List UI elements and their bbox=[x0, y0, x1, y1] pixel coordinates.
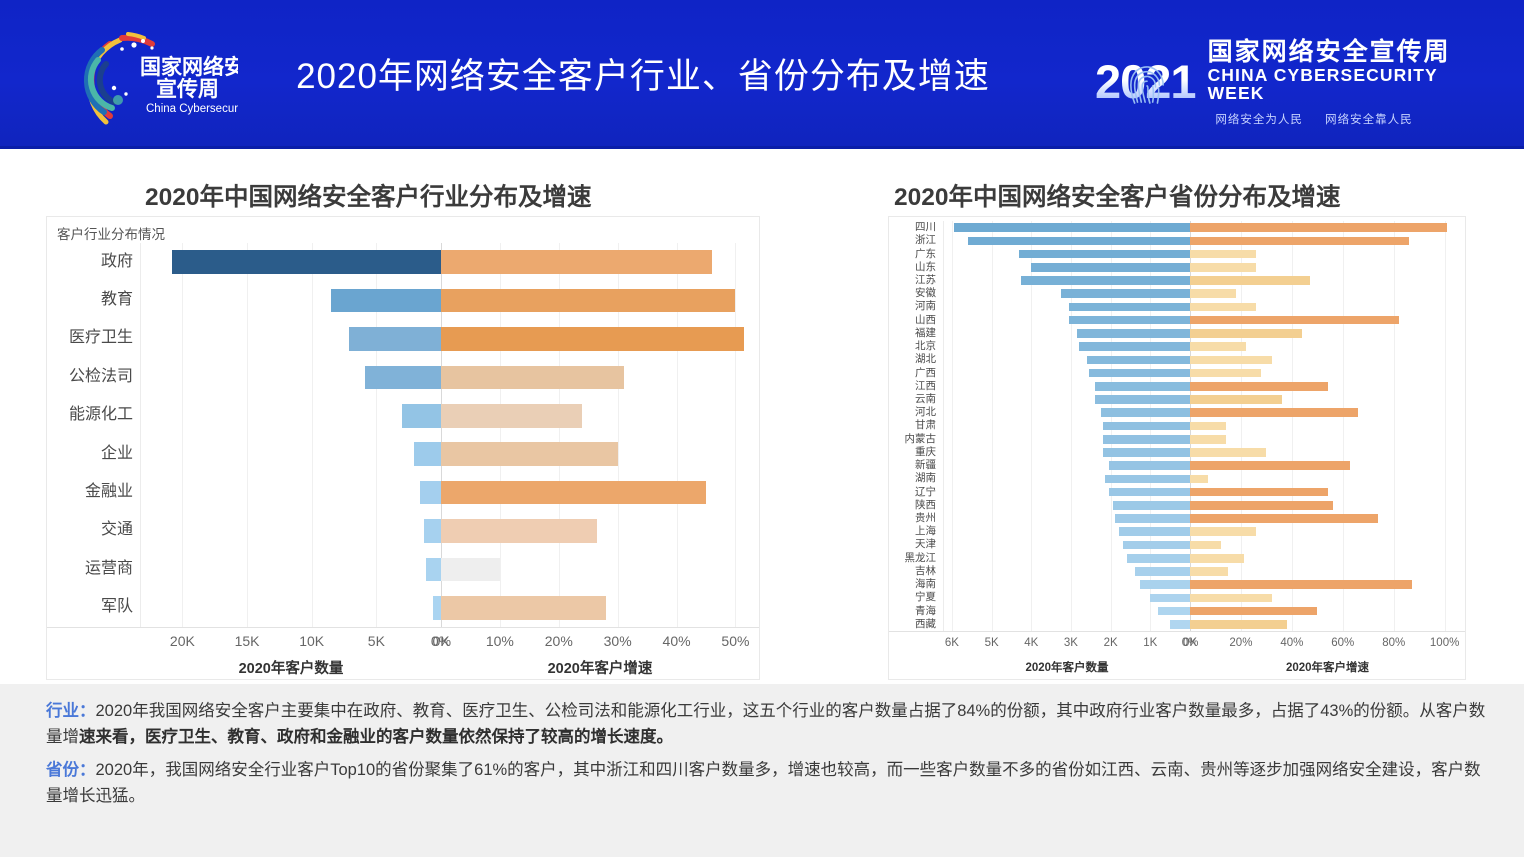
bar-count bbox=[1103, 422, 1190, 431]
category-label: 浙江 bbox=[915, 233, 936, 247]
bar-growth bbox=[441, 327, 744, 351]
province-chart-card: 四川浙江广东山东江苏安徽河南山西福建北京湖北广西江西云南河北甘肃内蒙古重庆新疆湖… bbox=[888, 216, 1466, 680]
footnote-industry: 行业：2020年我国网络安全客户主要集中在政府、教育、医疗卫生、公检司法和能源化… bbox=[46, 698, 1486, 750]
logo-cn-line1: 国家网络安全 bbox=[140, 55, 238, 79]
bar-growth bbox=[1190, 620, 1287, 629]
bar-count bbox=[1105, 475, 1190, 484]
category-label: 教育 bbox=[101, 289, 133, 311]
bar-count bbox=[1170, 620, 1190, 629]
bar-growth bbox=[1190, 461, 1350, 470]
category-label: 内蒙古 bbox=[905, 432, 937, 446]
bars-area bbox=[944, 221, 1465, 631]
category-label: 山西 bbox=[915, 313, 936, 327]
bar-count bbox=[1019, 250, 1190, 259]
bar-count bbox=[1109, 461, 1190, 470]
category-label: 江苏 bbox=[915, 273, 936, 287]
category-label: 政府 bbox=[101, 251, 133, 273]
bar-growth bbox=[1190, 514, 1378, 523]
category-label: 江西 bbox=[915, 379, 936, 393]
industry-plot: 政府教育医疗卫生公检法司能源化工企业金融业交通运营商军队20K15K10K5K0… bbox=[47, 243, 759, 679]
axis-line bbox=[47, 627, 759, 628]
bar-growth bbox=[1190, 263, 1256, 272]
gridline bbox=[1394, 221, 1395, 631]
bar-count bbox=[1095, 382, 1190, 391]
bar-count bbox=[365, 366, 441, 390]
axis-tick: 50% bbox=[709, 633, 761, 649]
axis-title-growth: 2020年客户增速 bbox=[441, 657, 759, 678]
category-label: 贵州 bbox=[915, 511, 936, 525]
left-chart-title: 2020年中国网络安全客户行业分布及增速 bbox=[145, 178, 592, 213]
bar-growth bbox=[441, 250, 712, 274]
bar-count bbox=[1089, 369, 1190, 378]
category-label: 西藏 bbox=[915, 617, 936, 631]
axis-tick: 5K bbox=[350, 633, 402, 649]
header-divider bbox=[0, 146, 1524, 149]
bar-count bbox=[1103, 435, 1190, 444]
logo-en-title: CHINA CYBERSECURITY WEEK bbox=[1208, 66, 1485, 102]
category-label: 四川 bbox=[915, 220, 936, 234]
footnote-industry-sep: ： bbox=[79, 702, 96, 720]
category-label: 安徽 bbox=[915, 286, 936, 300]
gridline bbox=[992, 221, 993, 631]
logo-slogans: 网络安全为人民 网络安全靠人民 bbox=[1095, 111, 1485, 127]
logo-en: China Cybersecurity Week bbox=[146, 103, 238, 115]
bar-growth bbox=[1190, 422, 1226, 431]
category-label-column: 四川浙江广东山东江苏安徽河南山西福建北京湖北广西江西云南河北甘肃内蒙古重庆新疆湖… bbox=[889, 221, 944, 631]
bar-growth bbox=[1190, 594, 1272, 603]
axis-tick: 60% bbox=[1317, 637, 1369, 649]
bar-growth bbox=[441, 519, 597, 543]
bars-area bbox=[141, 243, 759, 627]
bar-growth bbox=[1190, 541, 1221, 550]
bar-count bbox=[1119, 527, 1190, 536]
category-label: 河南 bbox=[915, 299, 936, 313]
bar-count bbox=[1115, 514, 1190, 523]
bar-growth bbox=[441, 442, 618, 466]
bar-count bbox=[1031, 263, 1190, 272]
axis-tick: 30% bbox=[592, 633, 644, 649]
logo-cn-title: 国家网络安全宣传周 bbox=[1208, 40, 1485, 66]
bar-count bbox=[1140, 580, 1190, 589]
bar-growth bbox=[1190, 356, 1272, 365]
right-chart-title: 2020年中国网络安全客户省份分布及增速 bbox=[894, 178, 1341, 213]
bar-growth bbox=[441, 481, 706, 505]
category-label: 青海 bbox=[915, 604, 936, 618]
bar-count bbox=[172, 250, 441, 274]
bar-growth bbox=[1190, 488, 1328, 497]
bar-growth bbox=[1190, 382, 1328, 391]
gridline bbox=[735, 243, 736, 627]
category-label: 军队 bbox=[101, 596, 133, 618]
category-label: 黑龙江 bbox=[905, 551, 937, 565]
gridline bbox=[247, 243, 248, 627]
chart-axis: 6K5K4K3K2K1K0K0%20%40%60%80%100%2020年客户数… bbox=[889, 631, 1465, 679]
category-label: 金融业 bbox=[85, 481, 133, 503]
category-label: 重庆 bbox=[915, 445, 936, 459]
category-label: 医疗卫生 bbox=[69, 327, 133, 349]
bar-count bbox=[331, 289, 441, 313]
category-label: 云南 bbox=[915, 392, 936, 406]
category-label: 北京 bbox=[915, 339, 936, 353]
bar-growth bbox=[1190, 316, 1399, 325]
bar-growth bbox=[1190, 435, 1226, 444]
axis-tick: 0% bbox=[1164, 637, 1216, 649]
bar-growth bbox=[441, 596, 606, 620]
bar-growth bbox=[1190, 237, 1409, 246]
bar-count bbox=[1077, 329, 1190, 338]
gridline bbox=[312, 243, 313, 627]
chart-axis: 20K15K10K5K0K0%10%20%30%40%50%2020年客户数量2… bbox=[47, 627, 759, 679]
category-label: 运营商 bbox=[85, 558, 133, 580]
axis-tick: 10% bbox=[474, 633, 526, 649]
axis-tick: 40% bbox=[651, 633, 703, 649]
industry-chart-subtitle: 客户行业分布情况 bbox=[57, 223, 165, 243]
bar-growth bbox=[441, 289, 735, 313]
bar-count bbox=[1101, 408, 1190, 417]
bar-growth bbox=[1190, 607, 1317, 616]
category-label: 陕西 bbox=[915, 498, 936, 512]
bar-growth bbox=[1190, 342, 1246, 351]
bar-count bbox=[414, 442, 441, 466]
bar-count bbox=[1079, 342, 1190, 351]
axis-tick: 20% bbox=[1215, 637, 1267, 649]
bar-growth bbox=[1190, 475, 1208, 484]
logo-slogan-2: 网络安全靠人民 bbox=[1325, 114, 1413, 126]
bar-growth bbox=[1190, 554, 1244, 563]
axis-tick: 20% bbox=[533, 633, 585, 649]
fingerprint-icon bbox=[1128, 64, 1166, 106]
bar-growth bbox=[1190, 527, 1256, 536]
category-label: 湖南 bbox=[915, 471, 936, 485]
axis-title-growth: 2020年客户增速 bbox=[1190, 659, 1465, 675]
bar-count bbox=[1021, 276, 1190, 285]
category-label: 宁夏 bbox=[915, 590, 936, 604]
category-label: 河北 bbox=[915, 405, 936, 419]
bar-count bbox=[1069, 316, 1190, 325]
logo-cn-line2: 宣传周 bbox=[156, 77, 219, 101]
bar-growth bbox=[441, 366, 624, 390]
category-label: 企业 bbox=[101, 443, 133, 465]
footnote-province: 省份：2020年，我国网络安全行业客户Top10的省份聚集了61%的客户，其中浙… bbox=[46, 757, 1486, 809]
footnote-province-sep: ： bbox=[79, 761, 96, 779]
category-label: 广西 bbox=[915, 366, 936, 380]
axis-tick: 10K bbox=[286, 633, 338, 649]
bar-count bbox=[424, 519, 441, 543]
bar-growth bbox=[1190, 567, 1228, 576]
bar-growth bbox=[441, 404, 582, 428]
category-label: 新疆 bbox=[915, 458, 936, 472]
category-label: 甘肃 bbox=[915, 418, 936, 432]
axis-tick: 40% bbox=[1266, 637, 1318, 649]
axis-title-count: 2020年客户数量 bbox=[944, 659, 1190, 675]
footnote-province-text: 2020年，我国网络安全行业客户Top10的省份聚集了61%的客户，其中浙江和四… bbox=[46, 761, 1481, 805]
gridline bbox=[952, 221, 953, 631]
axis-tick: 20K bbox=[156, 633, 208, 649]
bar-growth bbox=[1190, 408, 1358, 417]
axis-tick: 80% bbox=[1368, 637, 1420, 649]
category-label: 上海 bbox=[915, 524, 936, 538]
bar-count bbox=[420, 481, 441, 505]
bar-count bbox=[1158, 607, 1190, 616]
bar-growth bbox=[1190, 501, 1333, 510]
bar-count bbox=[1150, 594, 1190, 603]
category-label: 湖北 bbox=[915, 352, 936, 366]
bar-growth bbox=[1190, 276, 1310, 285]
bar-count bbox=[426, 558, 442, 582]
industry-chart-card: 客户行业分布情况 政府教育医疗卫生公检法司能源化工企业金融业交通运营商军队20K… bbox=[46, 216, 760, 680]
bar-growth bbox=[1190, 369, 1261, 378]
axis-line bbox=[889, 631, 1465, 632]
bar-growth bbox=[1190, 395, 1282, 404]
category-label: 辽宁 bbox=[915, 485, 936, 499]
gridline bbox=[1445, 221, 1446, 631]
category-label: 公检法司 bbox=[69, 366, 133, 388]
logo-year: 2021 bbox=[1095, 60, 1196, 104]
bar-growth bbox=[1190, 329, 1302, 338]
bar-count bbox=[1061, 289, 1190, 298]
bar-count bbox=[1113, 501, 1190, 510]
bar-growth bbox=[1190, 289, 1236, 298]
footnote-industry-key: 行业 bbox=[46, 702, 79, 720]
axis-tick: 15K bbox=[221, 633, 273, 649]
category-label: 吉林 bbox=[915, 564, 936, 578]
bar-count bbox=[1087, 356, 1190, 365]
bar-count bbox=[1069, 303, 1190, 312]
bar-growth bbox=[1190, 580, 1412, 589]
bar-growth bbox=[1190, 303, 1256, 312]
category-label: 交通 bbox=[101, 519, 133, 541]
bar-growth bbox=[1190, 223, 1447, 232]
footnotes-panel: 行业：2020年我国网络安全客户主要集中在政府、教育、医疗卫生、公检司法和能源化… bbox=[0, 684, 1524, 857]
bar-count bbox=[1135, 567, 1191, 576]
bar-count bbox=[1103, 448, 1190, 457]
bar-count bbox=[1123, 541, 1191, 550]
category-label: 天津 bbox=[915, 537, 936, 551]
category-label: 山东 bbox=[915, 260, 936, 274]
category-label: 海南 bbox=[915, 577, 936, 591]
logo-slogan-1: 网络安全为人民 bbox=[1215, 114, 1303, 126]
bar-count bbox=[1127, 554, 1191, 563]
bar-count bbox=[968, 237, 1190, 246]
bar-count bbox=[1109, 488, 1190, 497]
bar-growth bbox=[441, 558, 500, 582]
page-title: 2020年网络安全客户行业、省份分布及增速 bbox=[258, 48, 1028, 99]
footnote-province-key: 省份 bbox=[46, 761, 79, 779]
china-cybersecurity-week-logo-left: 国家网络安全 宣传周 China Cybersecurity Week bbox=[48, 30, 238, 130]
bar-count bbox=[954, 223, 1190, 232]
axis-tick: 0% bbox=[415, 633, 467, 649]
bar-count bbox=[349, 327, 441, 351]
page-header: 国家网络安全 宣传周 China Cybersecurity Week 2020… bbox=[0, 0, 1524, 148]
axis-tick: 100% bbox=[1419, 637, 1471, 649]
cybersecurity-swoosh-icon: 国家网络安全 宣传周 China Cybersecurity Week bbox=[48, 30, 238, 130]
china-cybersecurity-week-logo-right: 2021 国家网 bbox=[1095, 40, 1485, 124]
category-label: 能源化工 bbox=[69, 404, 133, 426]
gridline bbox=[182, 243, 183, 627]
bar-growth bbox=[1190, 250, 1256, 259]
bar-count bbox=[433, 596, 441, 620]
province-plot: 四川浙江广东山东江苏安徽河南山西福建北京湖北广西江西云南河北甘肃内蒙古重庆新疆湖… bbox=[889, 221, 1465, 679]
axis-title-count: 2020年客户数量 bbox=[141, 657, 441, 678]
category-label-column: 政府教育医疗卫生公检法司能源化工企业金融业交通运营商军队 bbox=[47, 243, 141, 627]
category-label: 广东 bbox=[915, 247, 936, 261]
bar-count bbox=[402, 404, 441, 428]
bar-count bbox=[1095, 395, 1190, 404]
gridline bbox=[1343, 221, 1344, 631]
category-label: 福建 bbox=[915, 326, 936, 340]
footnote-industry-text-b: 速来看，医疗卫生、教育、政府和金融业的客户数量依然保持了较高的增长速度。 bbox=[79, 728, 673, 746]
bar-growth bbox=[1190, 448, 1266, 457]
